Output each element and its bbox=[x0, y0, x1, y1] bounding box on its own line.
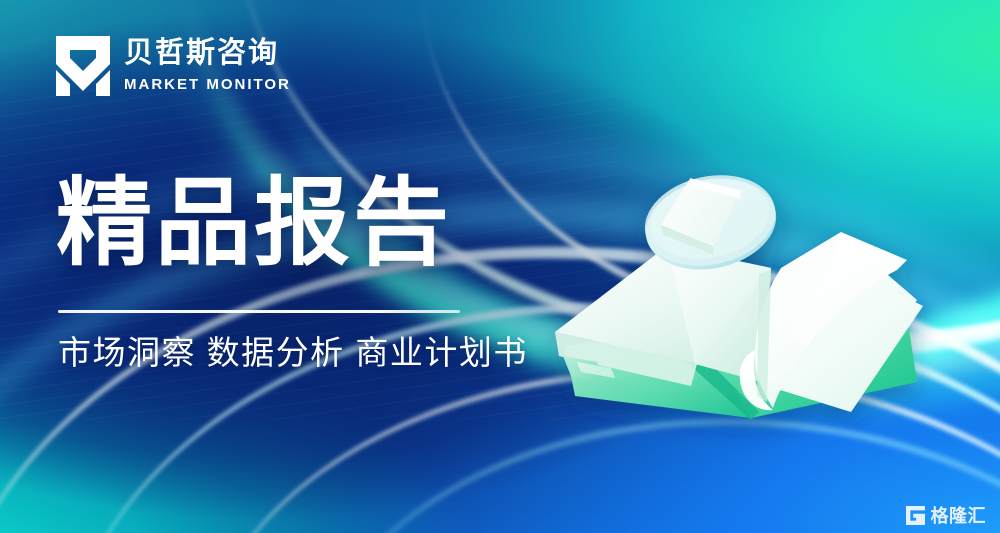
gelonghui-g-logo-icon bbox=[906, 506, 925, 525]
page-subtitle: 市场洞察 数据分析 商业计划书 bbox=[58, 331, 528, 376]
source-watermark: 格隆汇 bbox=[906, 506, 987, 525]
brand-name-cn: 贝哲斯咨询 bbox=[124, 38, 291, 70]
report-cover-poster: 贝哲斯咨询 MARKET MONITOR 精品报告 市场洞察 数据分析 商业计划… bbox=[0, 0, 1000, 533]
brand-name-en: MARKET MONITOR bbox=[124, 77, 291, 94]
page-title: 精品报告 bbox=[56, 176, 452, 272]
brand-logo: 贝哲斯咨询 MARKET MONITOR bbox=[56, 36, 291, 96]
market-monitor-m-logo-icon bbox=[56, 36, 110, 96]
watermark-label: 格隆汇 bbox=[931, 507, 987, 525]
title-divider bbox=[58, 310, 460, 313]
